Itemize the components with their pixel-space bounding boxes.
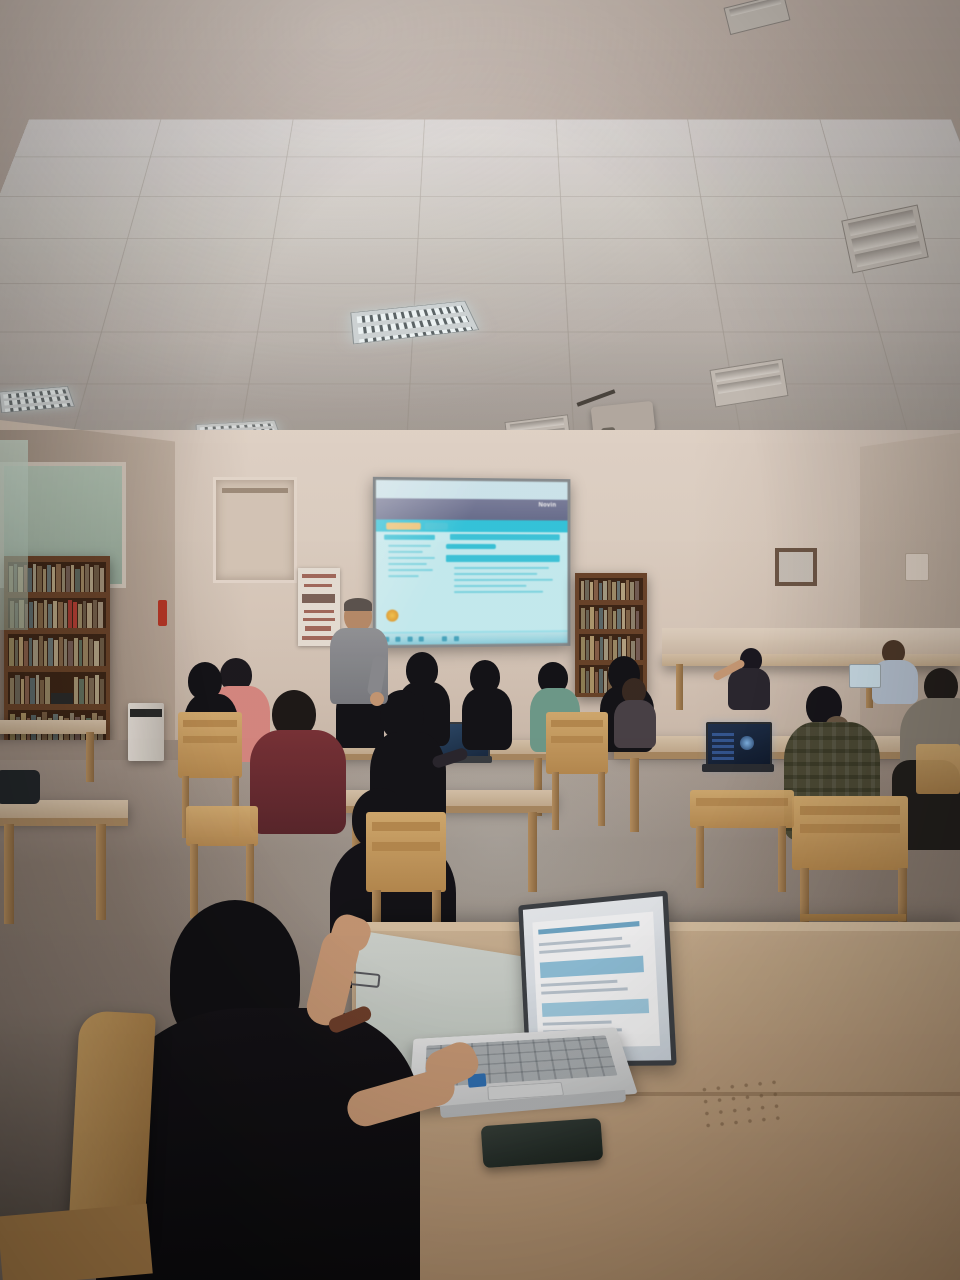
laptop-mid-right-base [702,764,774,772]
table-perforations [698,1076,782,1130]
library-training-photo: Novin [0,0,960,1280]
ceiling-tile [708,238,867,284]
bag [0,770,40,804]
table-leg [4,824,14,924]
ceiling-tile [265,238,419,284]
hair [344,598,372,611]
chair-leg [552,772,559,830]
ceiling-tile [286,120,425,158]
ceiling-tile [415,238,566,284]
torso [728,668,770,710]
chair-left-1[interactable] [186,806,258,846]
wall-panel [213,477,297,583]
ceiling-tile [715,283,880,332]
torso [462,688,512,750]
ceiling-tile [150,120,293,158]
ceiling-tile [700,196,853,239]
chair-leg [778,826,786,892]
ceiling-tile [560,196,708,239]
ceiling-tile [830,157,960,197]
chair-leg [696,826,704,888]
wall-unit [905,553,929,581]
ceiling-tile [0,157,151,197]
table-leg [528,812,537,892]
table-edge [0,818,128,826]
chair-back-right-2[interactable] [690,790,794,828]
window-reflection [0,440,28,630]
ceiling-tile [279,157,422,197]
ceiling-tile [115,238,274,284]
ceiling-tile [819,120,960,158]
torso-maroon [250,730,346,834]
fire-extinguisher [158,600,167,626]
projected-web-page: Novin [376,480,568,645]
ceiling-tile [0,283,116,332]
framed-picture [775,548,817,586]
chair-mid-2[interactable] [546,712,608,774]
ceiling-tile [565,283,724,332]
ceiling-tile [879,332,960,385]
ceiling-tile [101,283,266,332]
torso [614,700,656,748]
laptop-mid-right-screen [706,722,772,770]
chair-mid-1[interactable] [178,712,242,778]
table-leg [676,664,683,710]
chair-back-right-4[interactable] [916,744,960,794]
ceiling-tile [558,157,701,197]
ceiling-tile [127,196,280,239]
table-rear-right [662,652,960,666]
table-leg [86,732,94,782]
ceiling-tile [420,157,561,197]
air-vent-4 [724,0,791,35]
desk-divider [662,628,960,654]
ceiling-tile [272,196,420,239]
ceiling-tile [694,157,842,197]
trash-bin [128,703,164,761]
ceiling-tile [688,120,831,158]
chair-leg [598,772,605,826]
table-leg [630,758,639,832]
ceiling-tile [14,120,161,158]
ceiling-tile [0,196,140,239]
chair-leg [190,844,198,918]
chair-back-right-1[interactable] [792,796,908,870]
ceiling-tile [0,332,102,385]
chair-rail [800,914,906,921]
ceiling-tile [556,120,695,158]
ceiling-tile [87,332,258,385]
hand [370,692,384,706]
ceiling-tile [0,238,128,284]
ceiling-tile [422,120,559,158]
ceiling-tile [563,238,717,284]
chair-mid-3[interactable] [366,812,446,892]
chair-foreground-seat [0,1204,153,1280]
ceiling-tile [568,332,733,385]
screen-glare [376,480,568,645]
ceiling-tile [417,196,563,239]
projection-screen: Novin [373,477,571,648]
ceiling-tile [139,157,287,197]
ceiling-tile [409,332,571,385]
smartphone[interactable] [481,1118,604,1168]
ceiling-tile [865,283,960,332]
table-leg [96,824,106,920]
laptop-back-right-screen [849,664,881,688]
